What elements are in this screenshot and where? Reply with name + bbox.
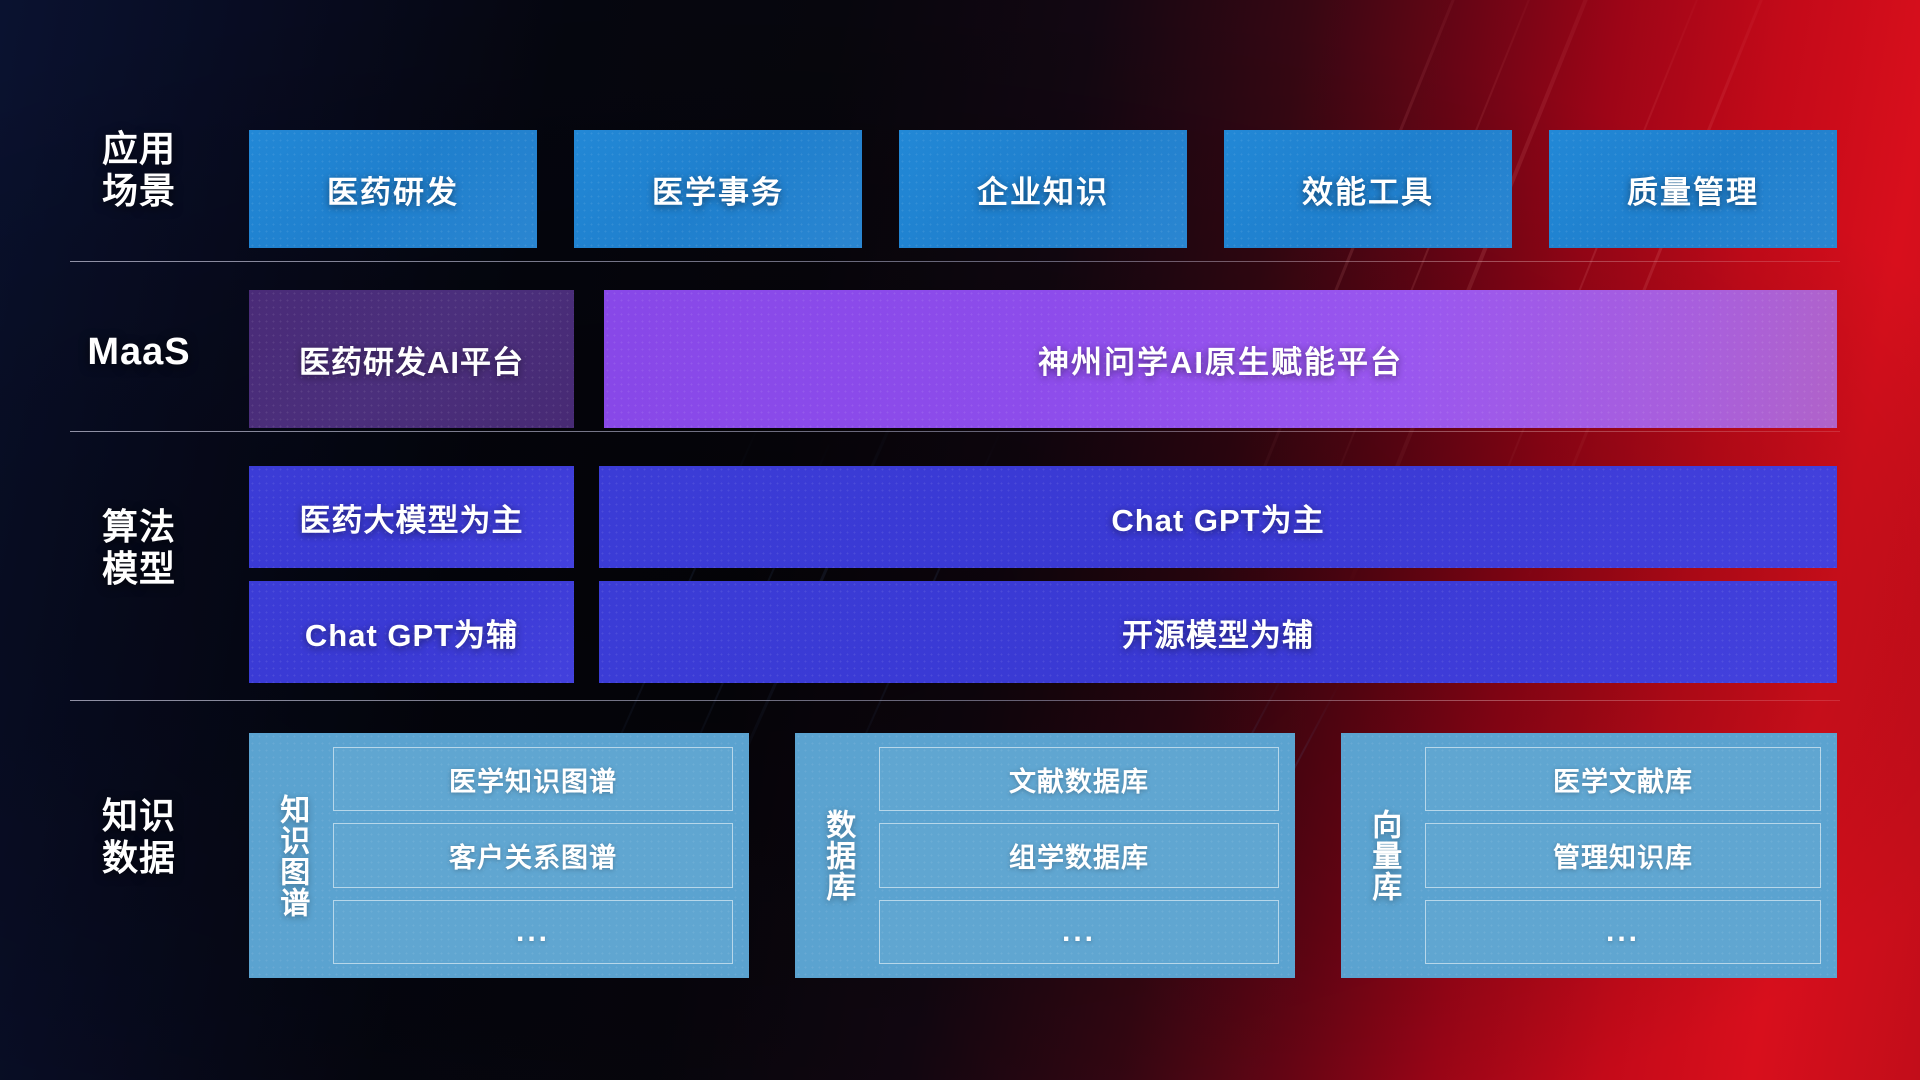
- knowledge-group-2-item-3[interactable]: ...: [879, 900, 1279, 964]
- knowledge-group-2-item-1[interactable]: 文献数据库: [879, 747, 1279, 811]
- maas-card-shenzhou-platform-label: 神州问学AI原生赋能平台: [1038, 337, 1403, 382]
- algorithm-card-pharma-primary-label: 医药大模型为主: [300, 495, 524, 540]
- row-label-knowledge-data: 知识 数据: [74, 795, 204, 880]
- knowledge-group-1-title: 知识图谱: [267, 747, 315, 964]
- divider-3: [70, 700, 1840, 701]
- scenario-card-2-label: 医学事务: [652, 167, 784, 212]
- scenario-card-5-label: 质量管理: [1627, 167, 1759, 212]
- algorithm-card-chatgpt-primary[interactable]: Chat GPT为主: [599, 466, 1837, 568]
- knowledge-group-3-item-1[interactable]: 医学文献库: [1425, 747, 1821, 811]
- knowledge-group-knowledge-graph[interactable]: 知识图谱 医学知识图谱 客户关系图谱 ...: [249, 733, 749, 978]
- scenario-card-2[interactable]: 医学事务: [574, 130, 862, 248]
- algorithm-card-opensource-secondary-label: 开源模型为辅: [1122, 610, 1314, 655]
- scenario-card-1[interactable]: 医药研发: [249, 130, 537, 248]
- maas-card-pharma-platform[interactable]: 医药研发AI平台: [249, 290, 574, 428]
- slide-canvas: 应用 场景 医药研发 医学事务 企业知识 效能工具 质量管理 MaaS 医药研发…: [0, 0, 1920, 1080]
- knowledge-group-3-item-3[interactable]: ...: [1425, 900, 1821, 964]
- knowledge-group-2-title: 数据库: [813, 747, 861, 964]
- algorithm-card-pharma-primary[interactable]: 医药大模型为主: [249, 466, 574, 568]
- maas-card-pharma-platform-label: 医药研发AI平台: [299, 337, 524, 382]
- knowledge-group-3-title: 向量库: [1359, 747, 1407, 964]
- algorithm-card-chatgpt-secondary-label: Chat GPT为辅: [305, 610, 518, 655]
- knowledge-group-1-item-3[interactable]: ...: [333, 900, 733, 964]
- divider-2: [70, 431, 1840, 432]
- row-label-application-scenarios: 应用 场景: [74, 128, 204, 213]
- knowledge-group-vector-store[interactable]: 向量库 医学文献库 管理知识库 ...: [1341, 733, 1837, 978]
- algorithm-card-chatgpt-secondary[interactable]: Chat GPT为辅: [249, 581, 574, 683]
- divider-1: [70, 261, 1840, 262]
- row-label-algorithm-models: 算法 模型: [74, 506, 204, 591]
- knowledge-group-1-item-1[interactable]: 医学知识图谱: [333, 747, 733, 811]
- algorithm-card-chatgpt-primary-label: Chat GPT为主: [1111, 495, 1324, 540]
- scenario-card-4[interactable]: 效能工具: [1224, 130, 1512, 248]
- row-label-maas: MaaS: [74, 330, 204, 375]
- maas-card-shenzhou-platform[interactable]: 神州问学AI原生赋能平台: [604, 290, 1837, 428]
- knowledge-group-database[interactable]: 数据库 文献数据库 组学数据库 ...: [795, 733, 1295, 978]
- knowledge-group-1-item-2[interactable]: 客户关系图谱: [333, 823, 733, 887]
- algorithm-card-opensource-secondary[interactable]: 开源模型为辅: [599, 581, 1837, 683]
- scenario-card-1-label: 医药研发: [327, 167, 459, 212]
- scenario-card-5[interactable]: 质量管理: [1549, 130, 1837, 248]
- scenario-card-3-label: 企业知识: [977, 167, 1109, 212]
- scenario-card-3[interactable]: 企业知识: [899, 130, 1187, 248]
- knowledge-group-3-item-2[interactable]: 管理知识库: [1425, 823, 1821, 887]
- scenario-card-4-label: 效能工具: [1302, 167, 1434, 212]
- knowledge-group-2-item-2[interactable]: 组学数据库: [879, 823, 1279, 887]
